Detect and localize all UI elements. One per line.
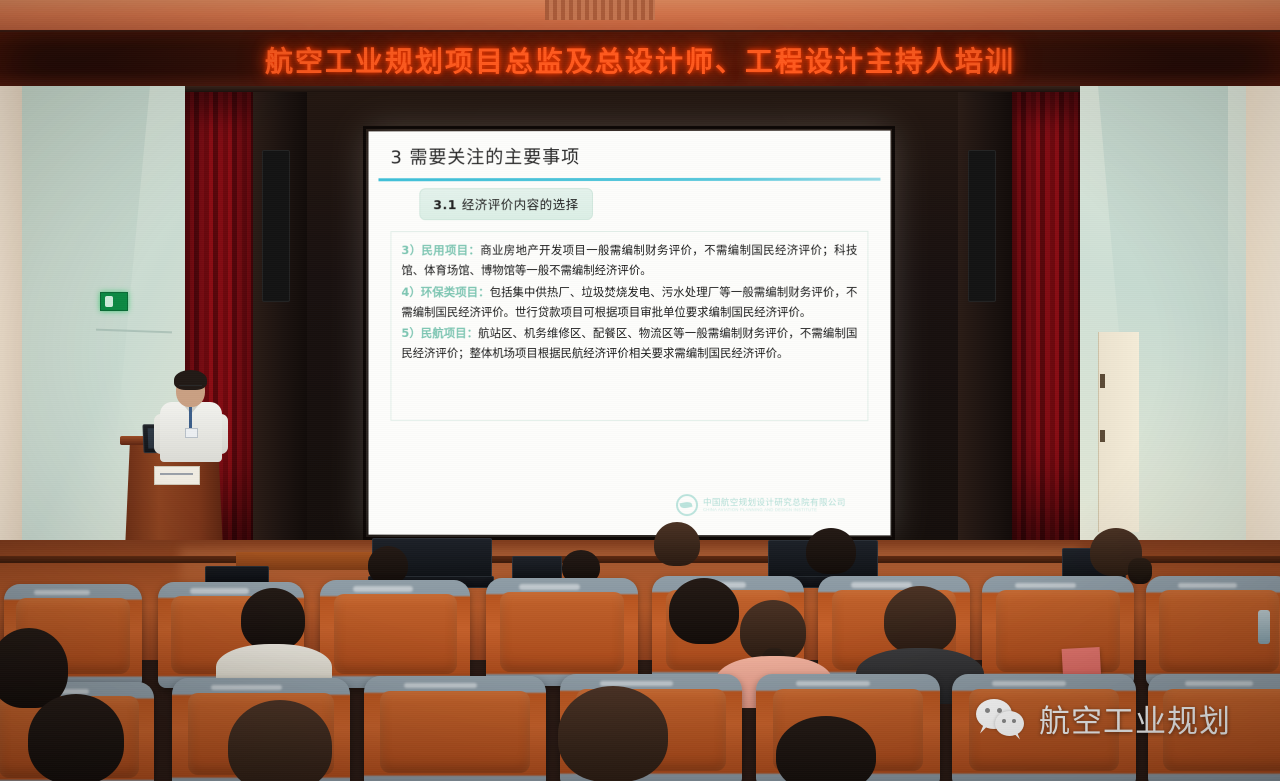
seat-highlight (796, 681, 870, 687)
wechat-bubble-small (995, 711, 1024, 736)
seat-cushion (996, 590, 1121, 671)
audience-ponytail (1128, 558, 1152, 584)
seat-cushion (334, 594, 457, 674)
photo-scene: 航空工业规划项目总监及总设计师、工程设计主持人培训 (0, 0, 1280, 781)
presenter-glasses (179, 385, 202, 391)
auditorium-seat (486, 578, 638, 686)
seat-highlight (1178, 583, 1236, 589)
lecture-hall-room: 航空工业规划项目总监及总设计师、工程设计主持人培训 (0, 0, 1280, 781)
seat-highlight (211, 685, 282, 691)
audience-head (558, 686, 668, 781)
seat-highlight (34, 590, 89, 595)
wechat-eye (1012, 719, 1016, 723)
watermark-label: 航空工业规划 (1039, 696, 1231, 741)
door-handle (1100, 430, 1105, 442)
water-bottle (1258, 610, 1270, 644)
led-banner: 航空工业规划项目总监及总设计师、工程设计主持人培训 (0, 30, 1280, 91)
podium-name-plate (154, 466, 200, 485)
audience-head (368, 546, 408, 584)
attendee-laptop-lid (512, 556, 562, 580)
audience-head (654, 522, 700, 566)
seat-cushion (380, 691, 529, 774)
wechat-eye (985, 708, 990, 713)
wechat-icon (976, 699, 1030, 739)
wechat-watermark: 航空工业规划 (976, 696, 1231, 741)
seat-highlight (519, 584, 580, 589)
projection-screen-frame (363, 126, 895, 540)
seat-highlight (190, 588, 248, 593)
seat-cushion (500, 592, 625, 672)
presenter-badge (185, 428, 198, 438)
banner-title: 航空工业规划项目总监及总设计师、工程设计主持人培训 (265, 40, 1015, 80)
seat-highlight (1015, 583, 1076, 589)
door-handle (1100, 374, 1105, 388)
audience-head (669, 578, 739, 644)
ceiling-vent (545, 0, 655, 20)
auditorium-seat (364, 676, 546, 781)
seat-highlight (353, 586, 413, 591)
auditorium-seat (982, 576, 1134, 686)
presenter-lanyard (189, 406, 192, 430)
audience-head (884, 586, 956, 654)
seat-highlight (851, 582, 912, 587)
audience-head (241, 588, 305, 650)
auditorium-seat (320, 580, 470, 688)
audience-head (806, 528, 856, 574)
exit-sign-icon (100, 292, 128, 311)
seat-highlight (404, 683, 477, 689)
audience-head (28, 694, 124, 781)
stage-curtain-right (1012, 92, 1080, 562)
stage-speaker-box (262, 150, 290, 302)
stage-speaker-box (968, 150, 996, 302)
seat-highlight (992, 681, 1066, 687)
wechat-eye (1002, 719, 1006, 723)
seat-highlight (1185, 681, 1253, 687)
